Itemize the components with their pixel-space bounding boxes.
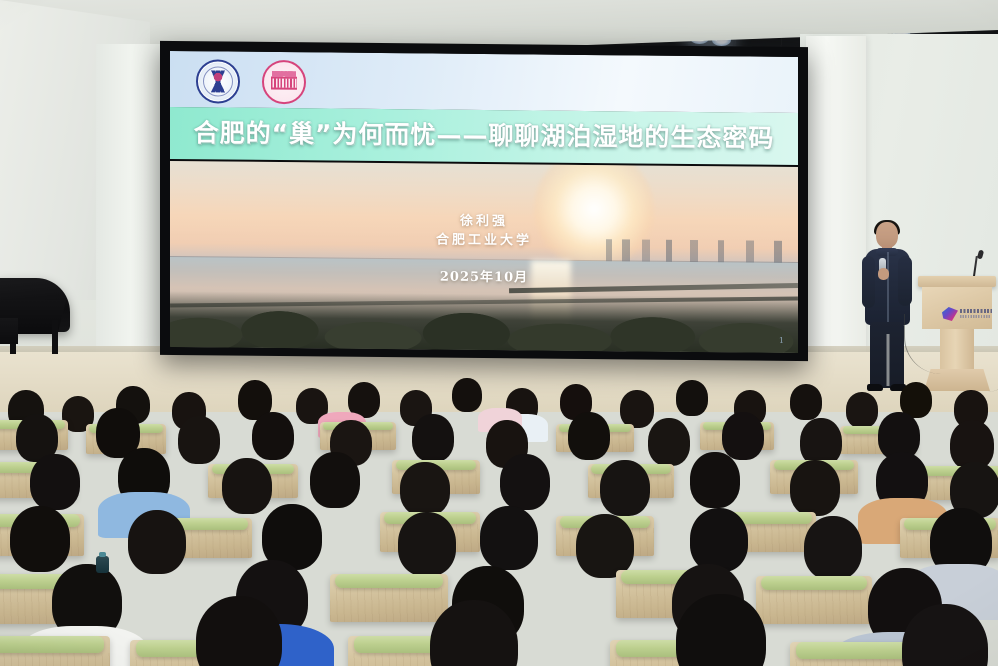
audience-head: [252, 412, 294, 460]
audience-head: [480, 506, 538, 570]
audience-head: [576, 514, 634, 578]
university-emblem-icon: [196, 59, 240, 103]
audience-head: [804, 516, 862, 580]
auditorium-seat[interactable]: [0, 636, 110, 666]
audience-head: [620, 390, 654, 428]
audience-head: [10, 506, 70, 572]
water-bottle: [96, 556, 109, 573]
audience-seating: [0, 368, 998, 666]
audience-head: [178, 416, 220, 464]
auditorium-seat[interactable]: [756, 576, 872, 624]
audience-head: [600, 460, 650, 516]
audience-head: [846, 392, 878, 428]
audience-head: [790, 384, 822, 420]
auditorium-scene: 合肥的“巢”为何而忧——聊聊湖泊湿地的生态密码 徐利强 合肥工业大学 2025年…: [0, 0, 998, 666]
presenter: [860, 222, 916, 390]
left-pillar: [96, 44, 166, 374]
audience-head: [722, 412, 764, 460]
audience-head: [790, 460, 840, 516]
piano-bench: [0, 318, 18, 344]
audience-head: [128, 510, 186, 574]
slide-speaker-block: 徐利强 合肥工业大学: [170, 209, 798, 253]
slide-logos: [196, 59, 306, 104]
audience-head: [398, 512, 456, 576]
audience-head: [412, 414, 454, 462]
slide-title: 合肥的“巢”为何而忧——聊聊湖泊湿地的生态密码: [170, 111, 798, 161]
organization-seal-icon: [262, 60, 306, 104]
audience-head: [310, 452, 360, 508]
audience-head: [568, 412, 610, 460]
presenter-hand: [878, 268, 889, 280]
slide-background-photo: 徐利强 合肥工业大学 2025年10月 1: [170, 161, 798, 353]
auditorium-seat[interactable]: [330, 574, 448, 622]
slide-number: 1: [779, 336, 784, 345]
audience-head: [690, 508, 748, 572]
shoreline-vegetation: [170, 291, 798, 353]
audience-head: [676, 594, 766, 666]
audience-head: [690, 452, 740, 508]
audience-head: [222, 458, 272, 514]
presentation-slide: 合肥的“巢”为何而忧——聊聊湖泊湿地的生态密码 徐利强 合肥工业大学 2025年…: [170, 51, 798, 353]
audience-head: [676, 380, 708, 416]
audience-head: [452, 378, 482, 412]
audience-head: [30, 454, 80, 510]
institute-logo-icon: [942, 307, 958, 321]
audience-head: [400, 462, 450, 516]
audience-head: [500, 454, 550, 510]
audience-head: [800, 418, 842, 466]
projection-screen[interactable]: 合肥的“巢”为何而忧——聊聊湖泊湿地的生态密码 徐利强 合肥工业大学 2025年…: [170, 51, 798, 353]
right-pillar: [806, 36, 866, 396]
audience-head: [648, 418, 690, 466]
